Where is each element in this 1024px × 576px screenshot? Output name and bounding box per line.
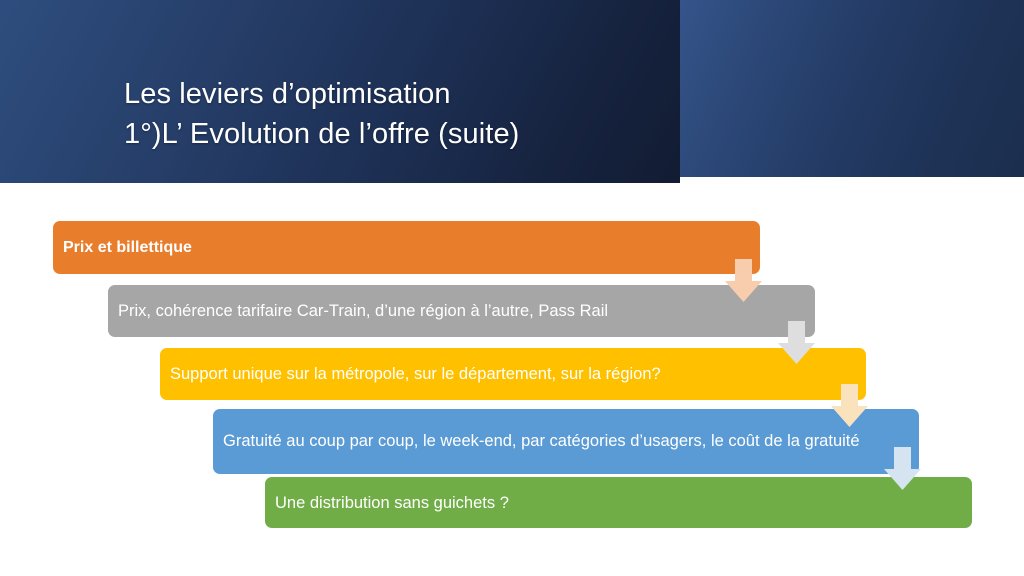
arrow-down-icon [884,447,921,490]
step-bar-support-unique[interactable]: Support unique sur la métropole, sur le … [160,348,866,400]
page-title: Les leviers d’optimisation 1°)L’ Evoluti… [124,34,664,194]
step-bar-prix-et-billettique[interactable]: Prix et billettique [53,221,760,274]
step-bar-prix-coherence-tarifaire[interactable]: Prix, cohérence tarifaire Car-Train, d’u… [108,285,815,337]
step-bar-label: Une distribution sans guichets ? [265,491,972,515]
step-bar-label: Prix, cohérence tarifaire Car-Train, d’u… [108,299,815,323]
step-bar-gratuite[interactable]: Gratuité au coup par coup, le week-end, … [213,409,919,474]
step-bar-label: Support unique sur la métropole, sur le … [160,362,866,386]
step-bar-label: Prix et billettique [53,236,760,260]
arrow-down-icon [725,259,762,302]
step-bar-distribution-sans-guichets[interactable]: Une distribution sans guichets ? [265,477,972,528]
header-panel-right [680,0,1024,177]
arrow-down-icon [778,321,815,364]
page-title-line-2: 1°)L’ Evolution de l’offre (suite) [124,114,664,154]
arrow-down-icon [831,384,868,427]
slide-canvas: Les leviers d’optimisation 1°)L’ Evoluti… [0,0,1024,576]
step-bar-label: Gratuité au coup par coup, le week-end, … [213,430,919,453]
page-title-line-1: Les leviers d’optimisation [124,78,451,110]
